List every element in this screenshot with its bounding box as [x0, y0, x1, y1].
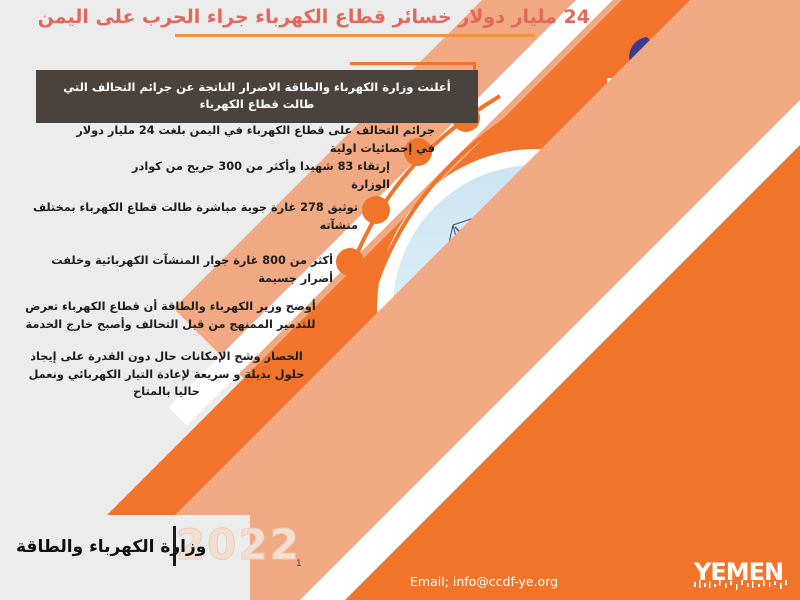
bullet-row-1: جرائم التحالف على قطاع الكهرباء في اليمن… [60, 122, 435, 157]
infographic-canvas: 24 مليار دولار خسائر قطاع الكهرباء جراء … [0, 0, 800, 600]
title-block: 24 مليار دولار خسائر قطاع الكهرباء جراء … [120, 6, 590, 37]
title-underline [175, 34, 535, 37]
bullet-row-4: أكثر من 800 غارة جوار المنشآت الكهربائية… [18, 252, 333, 287]
connector-horizontal [350, 62, 476, 65]
page-number: 1 [296, 559, 302, 569]
yemen-grunge-texture [692, 580, 790, 594]
footer-ministry: وزارة الكهرباء والطاقة [16, 537, 206, 557]
bullet-row-2: إرتقاء 83 شهيدا وأكثر من 300 جريح من كوا… [100, 158, 390, 193]
headline-box: أعلنت وزارة الكهرباء والطاقة الاضرار الن… [36, 70, 478, 123]
bullet-row-5: أوضح وزير الكهرباء والطاقة أن قطاع الكهر… [18, 298, 323, 333]
bullet-row-3: توثيق 278 غارة جوية مباشرة طالت قطاع الك… [28, 199, 358, 234]
bullet-row-6: الحصار وشح الإمكانات حال دون القدرة على … [14, 348, 319, 401]
page-title: 24 مليار دولار خسائر قطاع الكهرباء جراء … [120, 6, 590, 30]
footer-email[interactable]: Email; info@ccdf-ye.org [410, 574, 558, 589]
